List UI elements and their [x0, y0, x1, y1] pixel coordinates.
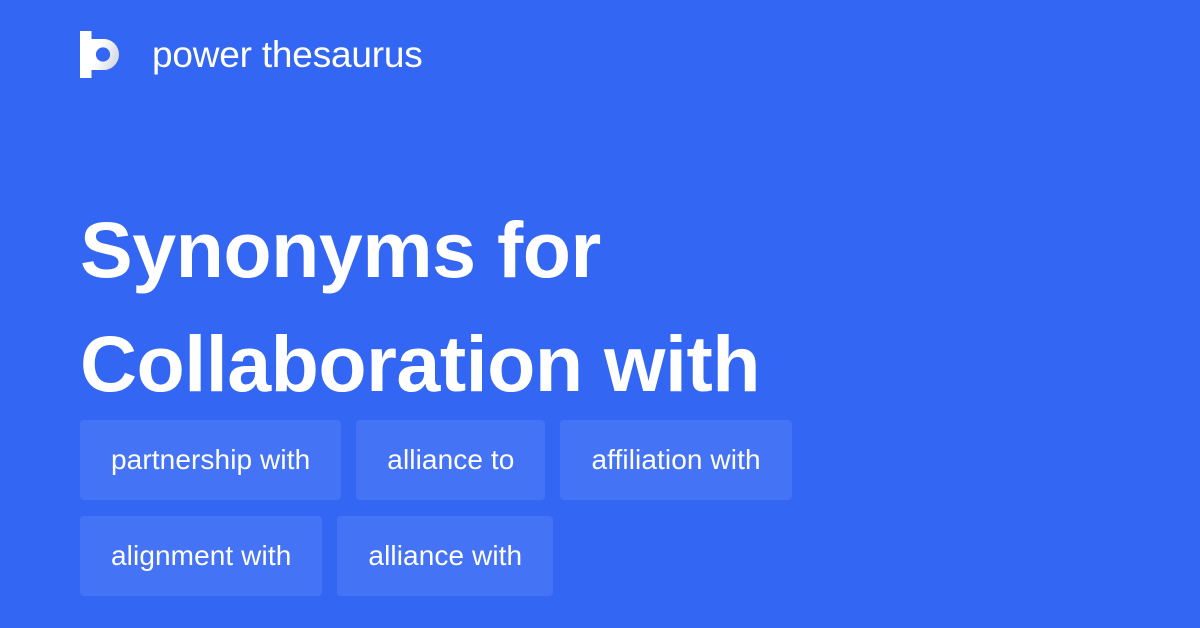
synonym-chip[interactable]: alliance with [337, 516, 553, 596]
synonym-chip[interactable]: affiliation with [560, 420, 791, 500]
power-thesaurus-synonyms-card: power thesaurus Synonyms for Collaborati… [0, 0, 1200, 628]
synonym-chip-row: alignment with alliance with [80, 516, 1140, 596]
synonym-chip-list: partnership with alliance to affiliation… [80, 420, 1140, 596]
power-thesaurus-b-logo-icon [80, 31, 126, 78]
synonym-chip-row: partnership with alliance to affiliation… [80, 420, 1140, 500]
page-title-line-1: Synonyms for [80, 193, 1120, 307]
synonym-chip[interactable]: partnership with [80, 420, 341, 500]
synonym-chip[interactable]: alliance to [356, 420, 545, 500]
brand-name: power thesaurus [152, 36, 423, 73]
brand-header[interactable]: power thesaurus [80, 29, 423, 79]
synonym-chip[interactable]: alignment with [80, 516, 322, 596]
page-title: Synonyms for Collaboration with [80, 193, 1120, 421]
page-title-line-2: Collaboration with [80, 307, 1120, 421]
